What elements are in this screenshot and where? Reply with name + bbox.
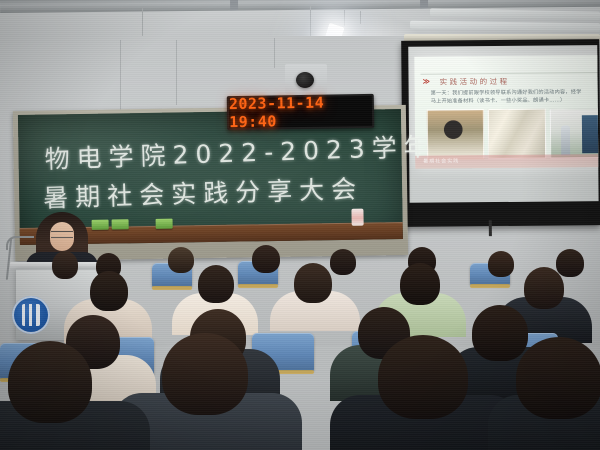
double-chevron-icon: ≫ xyxy=(423,78,429,86)
audience-head xyxy=(162,333,248,415)
presentation-slide: ≫ 实践活动的过程 第一天：我们提前跟学校领导联系沟通好我们的活动内容，经学 马… xyxy=(414,55,598,169)
wall-seam xyxy=(120,40,121,110)
audience-head xyxy=(556,249,584,277)
audience-head xyxy=(516,337,600,419)
lecture-hall-photo: ≫ 实践活动的过程 第一天：我们提前跟学校领导联系沟通好我们的活动内容，经学 马… xyxy=(0,0,600,450)
audience-head xyxy=(400,263,440,305)
cup xyxy=(351,209,363,226)
wall-speaker-icon xyxy=(296,72,314,88)
audience-head xyxy=(52,251,78,279)
screen-mount xyxy=(489,220,492,236)
chalk-box xyxy=(156,219,173,229)
audience-head xyxy=(252,245,280,273)
audience-head xyxy=(198,265,234,303)
slide-title: 实践活动的过程 xyxy=(440,76,510,88)
slide-divider xyxy=(420,72,598,75)
slide-photo-banner xyxy=(549,108,598,158)
audience-head xyxy=(168,247,194,273)
slide-photo-materials xyxy=(488,109,546,159)
slide-body-line-2: 马上开始准备材料（读书卡、一些小奖品、朗诵卡……） xyxy=(431,96,599,106)
wall-seam xyxy=(176,40,177,105)
audience xyxy=(0,245,600,450)
led-clock-text: 2023-11-14 19:40 xyxy=(229,93,373,131)
chalk-box xyxy=(112,219,129,229)
projection-screen-surface: ≫ 实践活动的过程 第一天：我们提前跟学校领导联系沟通好我们的活动内容，经学 马… xyxy=(408,45,598,203)
glasses-icon xyxy=(51,231,73,238)
chalk-box xyxy=(92,220,109,230)
audience-head xyxy=(294,263,332,303)
audience-head xyxy=(8,341,92,423)
wall-seam xyxy=(274,38,275,68)
audience-head xyxy=(472,305,528,361)
slide-footer-band: 暑期社会实践 xyxy=(415,154,598,169)
slide-photo-row xyxy=(427,108,599,160)
audience-head xyxy=(90,271,128,311)
audience-head xyxy=(524,267,564,309)
led-clock: 2023-11-14 19:40 xyxy=(227,94,375,130)
audience-head xyxy=(378,335,468,419)
audience-head xyxy=(330,249,356,275)
audience-head xyxy=(488,251,514,277)
